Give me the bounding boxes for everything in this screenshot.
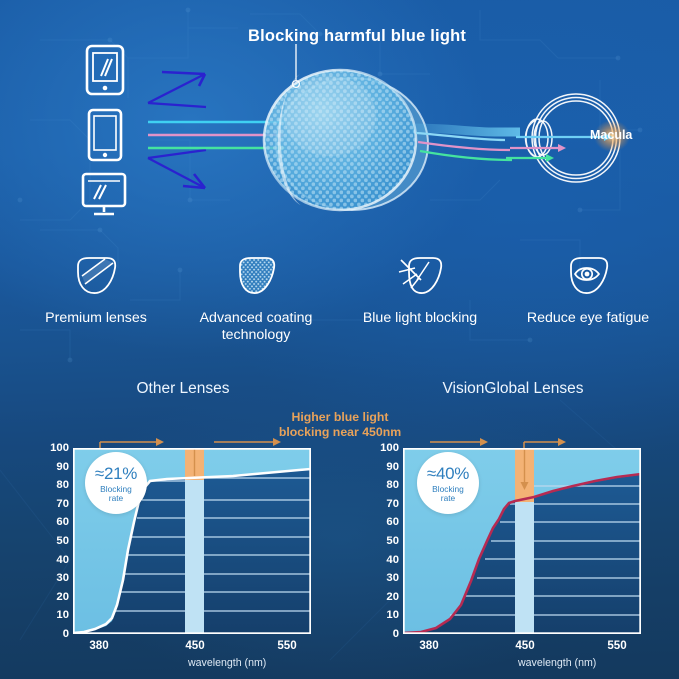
feature-label: Premium lenses (12, 310, 180, 327)
y-tick: 0 (45, 628, 69, 640)
y-tick: 50 (375, 535, 399, 547)
y-tick: 60 (375, 516, 399, 528)
y-tick: 40 (375, 554, 399, 566)
x-tick: 450 (515, 639, 534, 652)
infographic-root: Blocking harmful blue light Macula Premi… (0, 0, 679, 679)
chart-title: Other Lenses (18, 380, 348, 398)
y-tick: 90 (45, 461, 69, 473)
y-tick: 80 (375, 479, 399, 491)
y-tick: 70 (375, 498, 399, 510)
lens-shine-icon (12, 252, 180, 300)
chart-other-lenses: Other Lenses (18, 380, 348, 679)
x-tick: 450 (185, 639, 204, 652)
y-tick: 90 (375, 461, 399, 473)
y-tick: 60 (45, 516, 69, 528)
feature-label: Advanced coating technology (172, 310, 340, 344)
y-tick: 20 (45, 591, 69, 603)
blocking-rate-badge: ≈40% Blocking rate (417, 452, 479, 514)
y-tick: 0 (375, 628, 399, 640)
feature-advanced-coating: Advanced coating technology (172, 252, 340, 344)
y-tick: 100 (45, 442, 69, 454)
feature-blue-light-blocking: Blue light blocking (336, 252, 504, 327)
y-tick: 20 (375, 591, 399, 603)
feature-label: Reduce eye fatigue (502, 310, 674, 327)
x-tick: 550 (277, 639, 296, 652)
x-axis-label: wavelength (nm) (518, 657, 596, 669)
plot-area: ≈40% Blocking rate 100 90 80 70 60 50 40… (403, 448, 641, 634)
blocking-rate-badge: ≈21% Blocking rate (85, 452, 147, 514)
blocking-rate-value: ≈40% (427, 464, 469, 484)
blue-light-block-icon (336, 252, 504, 300)
macula-label: Macula (590, 128, 632, 142)
blocking-rate-caption: Blocking rate (432, 485, 464, 503)
x-tick: 380 (419, 639, 438, 652)
plot-area: ≈21% Blocking rate 100 90 80 70 60 50 40… (73, 448, 311, 634)
y-tick: 10 (375, 609, 399, 621)
eye-relief-icon (502, 252, 674, 300)
x-tick: 550 (607, 639, 626, 652)
y-tick: 40 (45, 554, 69, 566)
hero-illustration: Blocking harmful blue light Macula (0, 0, 679, 250)
blocking-rate-value: ≈21% (95, 464, 137, 484)
y-tick: 70 (45, 498, 69, 510)
chart-title: VisionGlobal Lenses (348, 380, 678, 398)
y-tick: 10 (45, 609, 69, 621)
feature-premium-lenses: Premium lenses (12, 252, 180, 327)
x-tick: 380 (89, 639, 108, 652)
hero-title: Blocking harmful blue light (248, 27, 488, 46)
feature-label: Blue light blocking (336, 310, 504, 327)
y-tick: 80 (45, 479, 69, 491)
mesh-coating-icon (172, 252, 340, 300)
feature-row: Premium lenses (0, 252, 679, 357)
y-tick: 30 (45, 572, 69, 584)
y-tick: 30 (375, 572, 399, 584)
x-axis-label: wavelength (nm) (188, 657, 266, 669)
y-tick: 100 (375, 442, 399, 454)
blocking-rate-caption: Blocking rate (100, 485, 132, 503)
feature-reduce-eye-fatigue: Reduce eye fatigue (502, 252, 674, 327)
y-tick: 50 (45, 535, 69, 547)
chart-visionglobal-lenses: VisionGlobal Lenses (348, 380, 678, 679)
